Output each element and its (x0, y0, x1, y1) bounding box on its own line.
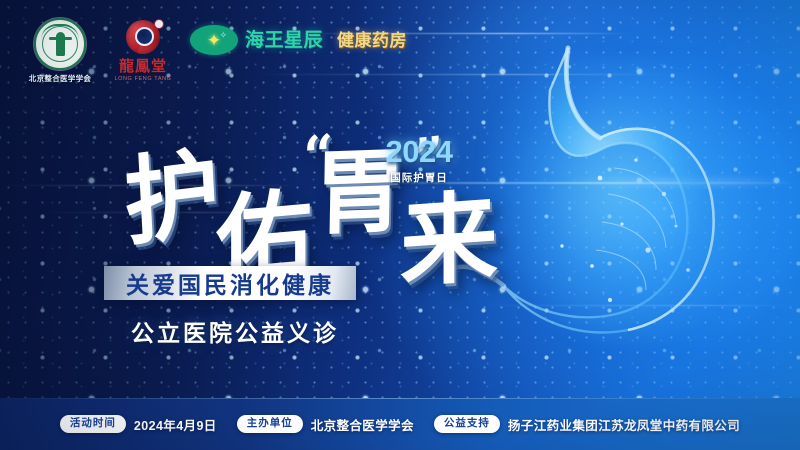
logo-brand-name: 海王星辰 (245, 31, 323, 50)
info-item-time: 活动时间 2024年4月9日 (60, 415, 217, 434)
info-value: 北京整合医学学会 (311, 415, 414, 434)
logo-chinese-name: 龍鳳堂 (119, 59, 167, 74)
subtitle-bar: 关爱国民消化健康 (104, 266, 356, 300)
info-value: 2024年4月9日 (134, 415, 217, 434)
star-oval-icon: ✦ ✧ (190, 25, 238, 55)
info-bar: 活动时间 2024年4月9日 主办单位 北京整合医学学会 公益支持 扬子江药业集… (0, 398, 800, 450)
spiral-mark-icon (122, 18, 164, 58)
right-blue-fade (590, 0, 800, 450)
logo-pinyin: LONG FENG TANG (114, 76, 171, 82)
info-item-sponsor: 公益支持 扬子江药业集团江苏龙凤堂中药有限公司 (434, 415, 740, 434)
logo-beijing-integrated-medicine-association: 北京整合医学学会 (24, 18, 96, 84)
spiral-dot (154, 19, 164, 29)
seal-figure (56, 32, 65, 56)
title-char-1: 护 (122, 144, 222, 252)
info-label: 主办单位 (237, 415, 303, 433)
logo-neptunus-pharmacy: ✦ ✧ 海王星辰 健康药房 (190, 25, 407, 55)
logo-row: 北京整合医学学会 龍鳳堂 LONG FENG TANG ✦ ✧ 海王星辰 健康药… (24, 18, 407, 84)
promotional-poster: 北京整合医学学会 龍鳳堂 LONG FENG TANG ✦ ✧ 海王星辰 健康药… (0, 0, 800, 450)
year-label: 国际护胃日 (376, 170, 462, 185)
logo-long-feng-tang: 龍鳳堂 LONG FENG TANG (110, 18, 176, 82)
logo-caption: 北京整合医学学会 (29, 73, 91, 84)
info-item-organizer: 主办单位 北京整合医学学会 (237, 415, 414, 434)
secondary-subtitle: 公立医院公益义诊 (131, 314, 339, 348)
info-label: 公益支持 (434, 415, 500, 433)
year-number: 2024 (376, 136, 462, 167)
info-value: 扬子江药业集团江苏龙凤堂中药有限公司 (508, 415, 740, 434)
star-small-glyph: ✧ (219, 30, 227, 41)
logo-tagline: 健康药房 (337, 32, 407, 49)
seal-emblem-icon (34, 18, 86, 70)
title-char-4: 来 (400, 188, 498, 293)
year-badge: 2024 国际护胃日 (376, 136, 462, 185)
subtitle-text: 关爱国民消化健康 (126, 266, 334, 300)
info-label: 活动时间 (60, 415, 126, 433)
